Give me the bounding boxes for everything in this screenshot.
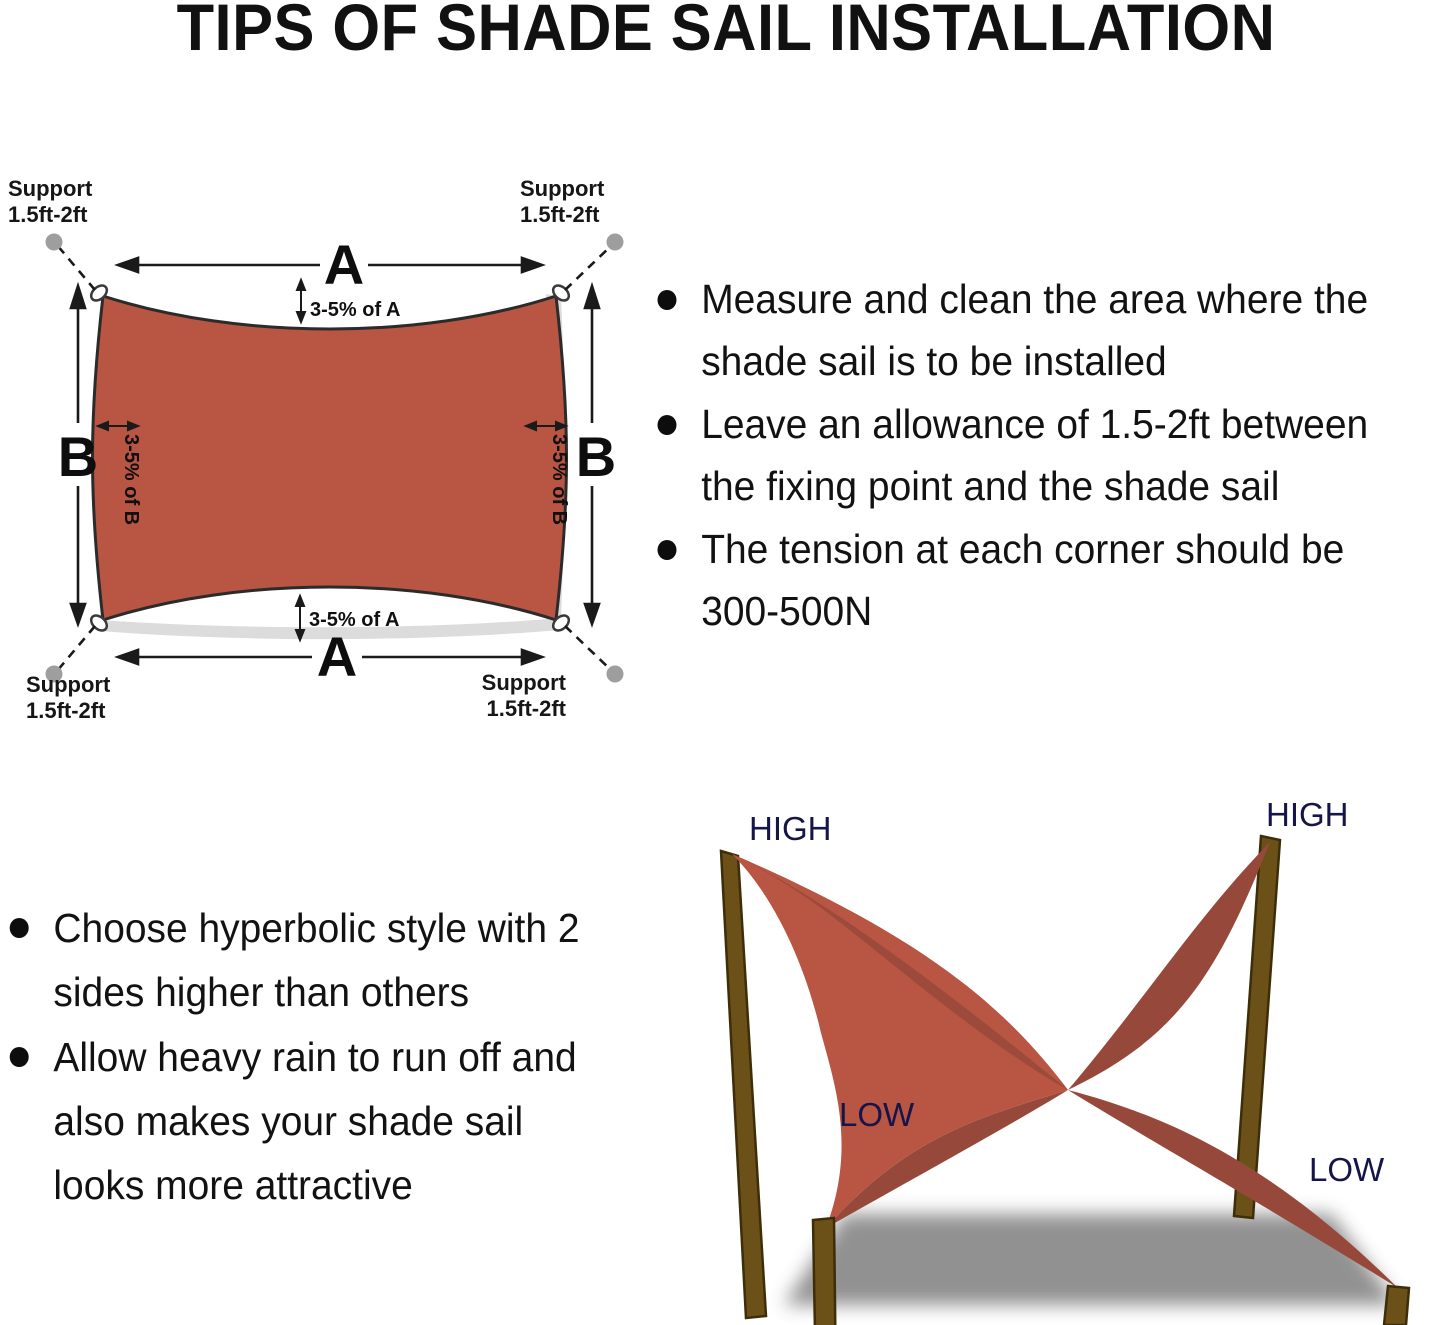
support-label-top-right-line1: Support bbox=[520, 176, 605, 201]
dim-arrowhead-bottom-a-right bbox=[522, 650, 542, 664]
post-front-right-low bbox=[1384, 1286, 1409, 1325]
shade-sail-shape bbox=[93, 296, 567, 620]
page-title: TIPS OF SHADE SAIL INSTALLATION bbox=[51, 0, 1401, 58]
list-item-text: The tension at each corner should be 300… bbox=[701, 518, 1412, 642]
support-label-bottom-right-line2: 1.5ft-2ft bbox=[487, 696, 567, 721]
support-label-top-left-line2: 1.5ft-2ft bbox=[8, 202, 88, 227]
infographic-page: TIPS OF SHADE SAIL INSTALLATION Support … bbox=[0, 0, 1452, 1325]
bullet-dot-icon bbox=[10, 1047, 29, 1067]
dimension-letter-a-top: A bbox=[324, 233, 364, 296]
support-dot-top-left bbox=[46, 234, 63, 251]
list-item: Allow heavy rain to run off and also mak… bbox=[4, 1025, 591, 1217]
tips-list-top-right: Measure and clean the area where the sha… bbox=[648, 268, 1452, 643]
sag-label-bottom: 3-5% of A bbox=[309, 609, 399, 631]
dimension-letter-b-left: B bbox=[58, 425, 98, 488]
support-label-bottom-left-line2: 1.5ft-2ft bbox=[26, 698, 106, 723]
label-high-left: HIGH bbox=[749, 810, 832, 847]
sag-arrowhead-bottom-up bbox=[296, 596, 304, 606]
dim-arrowhead-right-b-top bbox=[585, 286, 599, 308]
dim-arrowhead-left-b-bottom bbox=[71, 604, 85, 624]
dim-arrowhead-top-a-left bbox=[118, 258, 138, 272]
support-label-top-left-line1: Support bbox=[8, 176, 93, 201]
support-dot-bottom-right bbox=[607, 666, 624, 683]
tips-list-bottom-left: Choose hyperbolic style with 2 sides hig… bbox=[4, 896, 622, 1218]
dim-arrowhead-left-b-top bbox=[71, 286, 85, 308]
tie-line-bottom-left bbox=[57, 626, 95, 671]
tie-line-top-left bbox=[57, 245, 95, 290]
dimension-letter-b-right: B bbox=[576, 425, 616, 488]
label-high-right: HIGH bbox=[1266, 796, 1349, 833]
support-label-bottom-left-line1: Support bbox=[26, 672, 111, 697]
post-back-left-high bbox=[721, 851, 766, 1318]
sag-label-left: 3-5% of B bbox=[120, 434, 142, 525]
rectangle-sail-diagram: Support 1.5ft-2ft Support 1.5ft-2ft Supp… bbox=[0, 168, 660, 728]
list-item-text: Leave an allowance of 1.5-2ft between th… bbox=[701, 393, 1412, 517]
sag-arrowhead-top-down bbox=[297, 312, 305, 322]
dim-arrowhead-bottom-a-left bbox=[118, 650, 138, 664]
sag-label-right: 3-5% of B bbox=[548, 434, 570, 525]
bullet-dot-icon bbox=[658, 290, 677, 310]
bullet-dot-icon bbox=[658, 415, 677, 435]
list-item-text: Choose hyperbolic style with 2 sides hig… bbox=[53, 896, 591, 1024]
bullet-dot-icon bbox=[658, 540, 677, 560]
support-label-top-right-line2: 1.5ft-2ft bbox=[520, 202, 600, 227]
bullet-dot-icon bbox=[10, 918, 29, 938]
list-item: Choose hyperbolic style with 2 sides hig… bbox=[4, 896, 591, 1024]
list-item-text: Allow heavy rain to run off and also mak… bbox=[53, 1025, 591, 1217]
label-low-left: LOW bbox=[839, 1096, 915, 1133]
tie-line-bottom-right bbox=[565, 626, 612, 671]
list-item: Leave an allowance of 1.5-2ft between th… bbox=[648, 393, 1412, 517]
sag-label-top: 3-5% of A bbox=[310, 299, 400, 321]
dim-arrowhead-right-b-bottom bbox=[585, 604, 599, 624]
support-dot-top-right bbox=[607, 234, 624, 251]
list-item-text: Measure and clean the area where the sha… bbox=[701, 268, 1412, 392]
dim-arrowhead-top-a-right bbox=[522, 258, 542, 272]
label-low-right: LOW bbox=[1309, 1151, 1385, 1188]
hyperbolic-sail-diagram: HIGH HIGH LOW LOW bbox=[676, 788, 1452, 1325]
support-label-bottom-right-line1: Support bbox=[482, 670, 567, 695]
tie-line-top-right bbox=[565, 245, 612, 290]
dimension-letter-a-bottom: A bbox=[317, 625, 357, 688]
post-front-left-low bbox=[813, 1218, 836, 1325]
list-item: Measure and clean the area where the sha… bbox=[648, 268, 1412, 392]
list-item: The tension at each corner should be 300… bbox=[648, 518, 1412, 642]
sag-arrowhead-top-up bbox=[297, 280, 305, 290]
